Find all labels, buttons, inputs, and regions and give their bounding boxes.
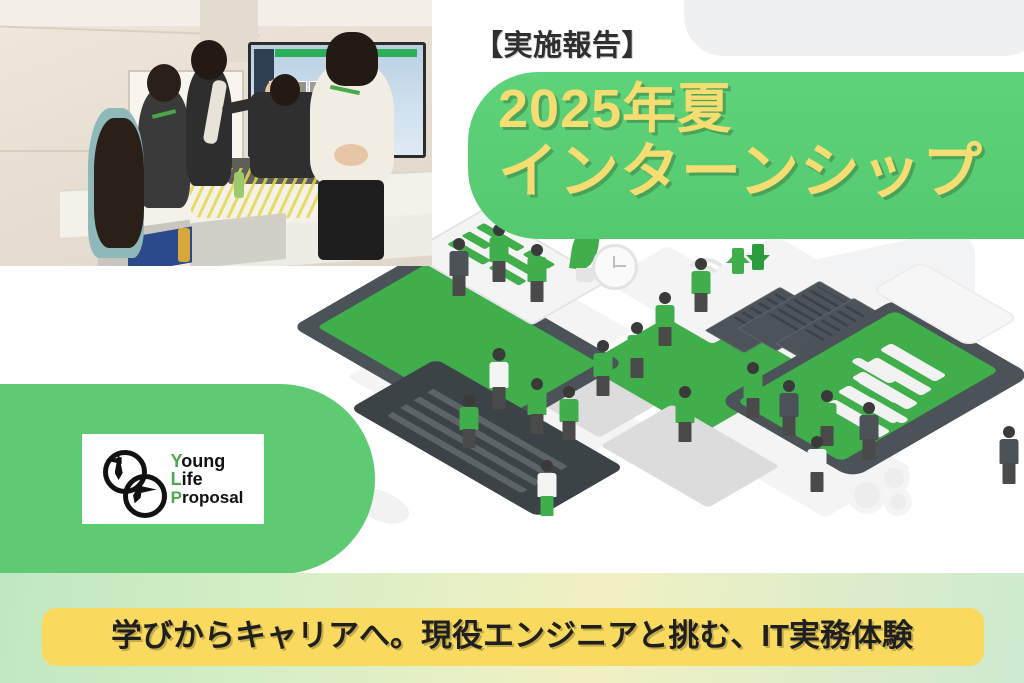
person-board-standing bbox=[448, 238, 470, 296]
logo-rest-ife: ife bbox=[182, 469, 203, 489]
gears-icon bbox=[850, 468, 930, 528]
photo-bottle-green bbox=[234, 172, 244, 198]
person-desk-worker bbox=[690, 258, 712, 312]
logo-rest-roposal: roposal bbox=[182, 488, 243, 507]
decorative-gray-panel bbox=[684, 0, 1024, 56]
person-server-tech bbox=[742, 362, 764, 418]
logo-word-proposal: Proposal bbox=[171, 489, 244, 506]
logo-rest-oung: oung bbox=[181, 451, 225, 471]
person-board-listener bbox=[526, 244, 548, 302]
person-seated-2 bbox=[558, 386, 580, 440]
person-seated-1 bbox=[526, 378, 548, 434]
person-desk-worker-2 bbox=[654, 292, 676, 346]
compass-logo-icon bbox=[103, 448, 165, 510]
person-handshake-1 bbox=[778, 380, 800, 436]
data-transfer-icon bbox=[732, 242, 778, 288]
isometric-scene: % bbox=[330, 230, 1024, 580]
person-right-edge bbox=[998, 426, 1020, 484]
person-board-presenter bbox=[488, 224, 510, 282]
report-kicker: 【実施報告】 bbox=[474, 22, 651, 64]
title-line-1: 2025年夏 bbox=[498, 82, 1024, 137]
photo-person-5 bbox=[310, 62, 394, 184]
person-bottom-center bbox=[536, 460, 558, 516]
person-mid-walker bbox=[674, 386, 696, 442]
event-photo bbox=[0, 0, 432, 266]
logo-wordmark: Young Life Proposal bbox=[171, 452, 244, 506]
clock-icon bbox=[592, 244, 638, 290]
photo-laptop-b bbox=[190, 213, 286, 266]
person-walking-1 bbox=[592, 340, 614, 396]
logo-initial-p: P bbox=[171, 488, 182, 507]
poster-canvas: % bbox=[0, 0, 1024, 683]
person-businessman bbox=[858, 402, 880, 460]
logo-word-young: Young bbox=[171, 452, 244, 470]
poster-title: 2025年夏 インターンシップ bbox=[498, 82, 1024, 202]
person-seated-3 bbox=[458, 394, 480, 448]
photo-person-1 bbox=[88, 108, 144, 258]
person-stairs-walker bbox=[806, 436, 828, 492]
photo-person-3 bbox=[186, 66, 232, 186]
title-line-2: インターンシップ bbox=[498, 141, 1024, 202]
company-logo: Young Life Proposal bbox=[82, 434, 264, 524]
stairs-illustration bbox=[826, 356, 956, 442]
tagline-text: 学びからキャリアへ。現役エンジニアと挑む、IT実務体験 bbox=[0, 573, 1024, 683]
person-walking-2 bbox=[626, 322, 648, 378]
logo-initial-y: Y bbox=[171, 451, 182, 471]
person-presenter bbox=[488, 348, 510, 408]
photo-person-2 bbox=[138, 88, 190, 208]
photo-drink-bottle bbox=[178, 228, 190, 262]
logo-initial-l: L bbox=[171, 469, 182, 489]
logo-word-life: Life bbox=[171, 470, 244, 488]
